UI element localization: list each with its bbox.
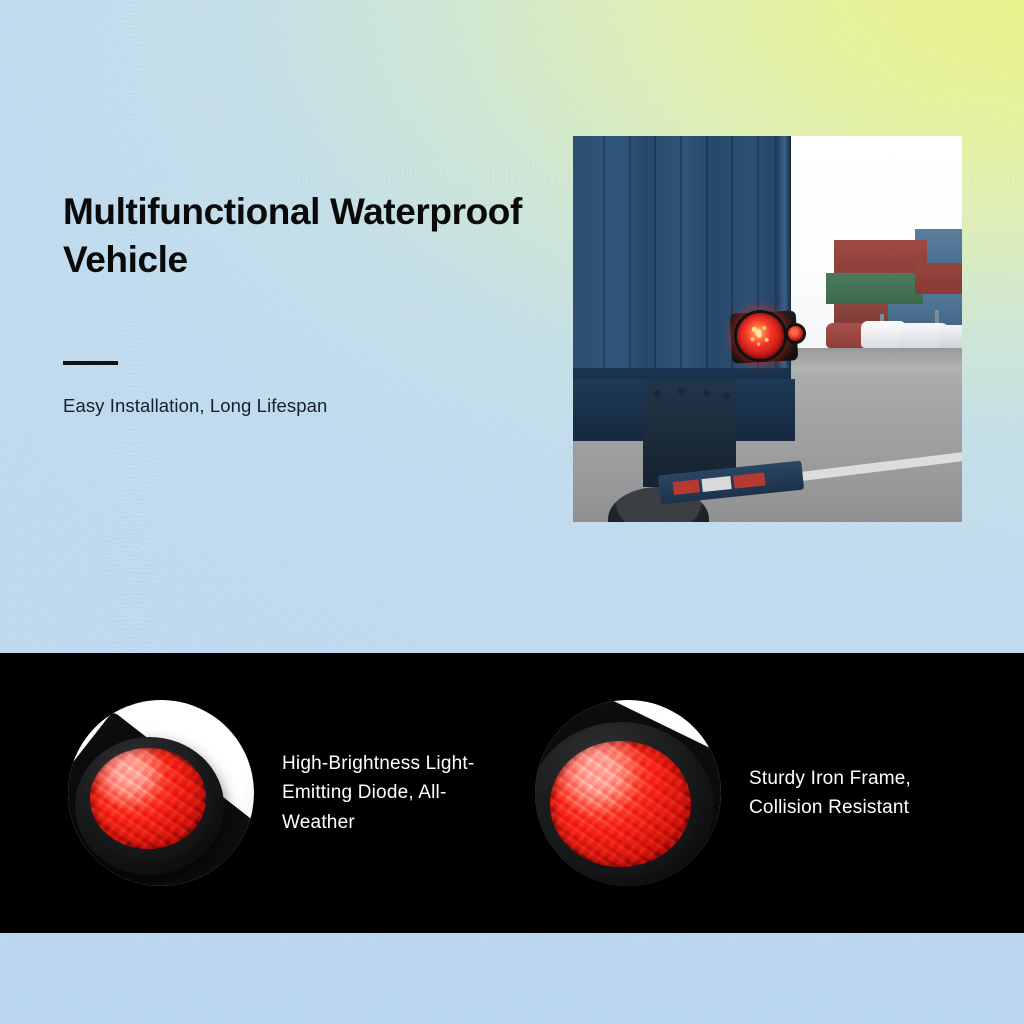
feature-image-iron-frame xyxy=(535,700,721,886)
bolt xyxy=(703,390,710,397)
feature-item-iron-frame: Sturdy Iron Frame, Collision Resistant xyxy=(535,653,989,933)
feature-label-iron-frame: Sturdy Iron Frame, Collision Resistant xyxy=(749,764,989,823)
feature-item-led-brightness: High-Brightness Light-Emitting Diode, Al… xyxy=(68,653,512,933)
parked-car-white-3 xyxy=(939,325,962,350)
reflective-strip-white xyxy=(701,476,731,492)
feature-label-led-brightness: High-Brightness Light-Emitting Diode, Al… xyxy=(282,749,512,837)
red-led-lens xyxy=(550,741,691,867)
feature-band: High-Brightness Light-Emitting Diode, Al… xyxy=(0,653,1024,933)
page-title: Multifunctional Waterproof Vehicle xyxy=(63,188,533,284)
product-banner-canvas: Multifunctional Waterproof Vehicle Easy … xyxy=(0,0,1024,1024)
bolt xyxy=(678,388,685,395)
reflective-strip-red-2 xyxy=(733,472,766,489)
hero-panel: Multifunctional Waterproof Vehicle Easy … xyxy=(0,0,1024,653)
reflective-strip-red xyxy=(673,479,700,495)
background-container-red xyxy=(834,240,927,273)
subheadline: Easy Installation, Long Lifespan xyxy=(63,394,533,419)
led-tail-light-illuminated xyxy=(734,310,787,362)
footer-strip xyxy=(0,933,1024,1024)
background-container-red-2 xyxy=(915,263,962,294)
background-container-green xyxy=(826,273,927,304)
feature-image-led-brightness xyxy=(68,700,254,886)
bolt xyxy=(723,392,730,399)
headline-block: Multifunctional Waterproof Vehicle xyxy=(63,188,533,284)
bolt xyxy=(654,390,661,397)
hero-product-photo xyxy=(573,136,962,522)
red-led-lens xyxy=(90,748,205,848)
title-divider-rule xyxy=(63,361,118,365)
